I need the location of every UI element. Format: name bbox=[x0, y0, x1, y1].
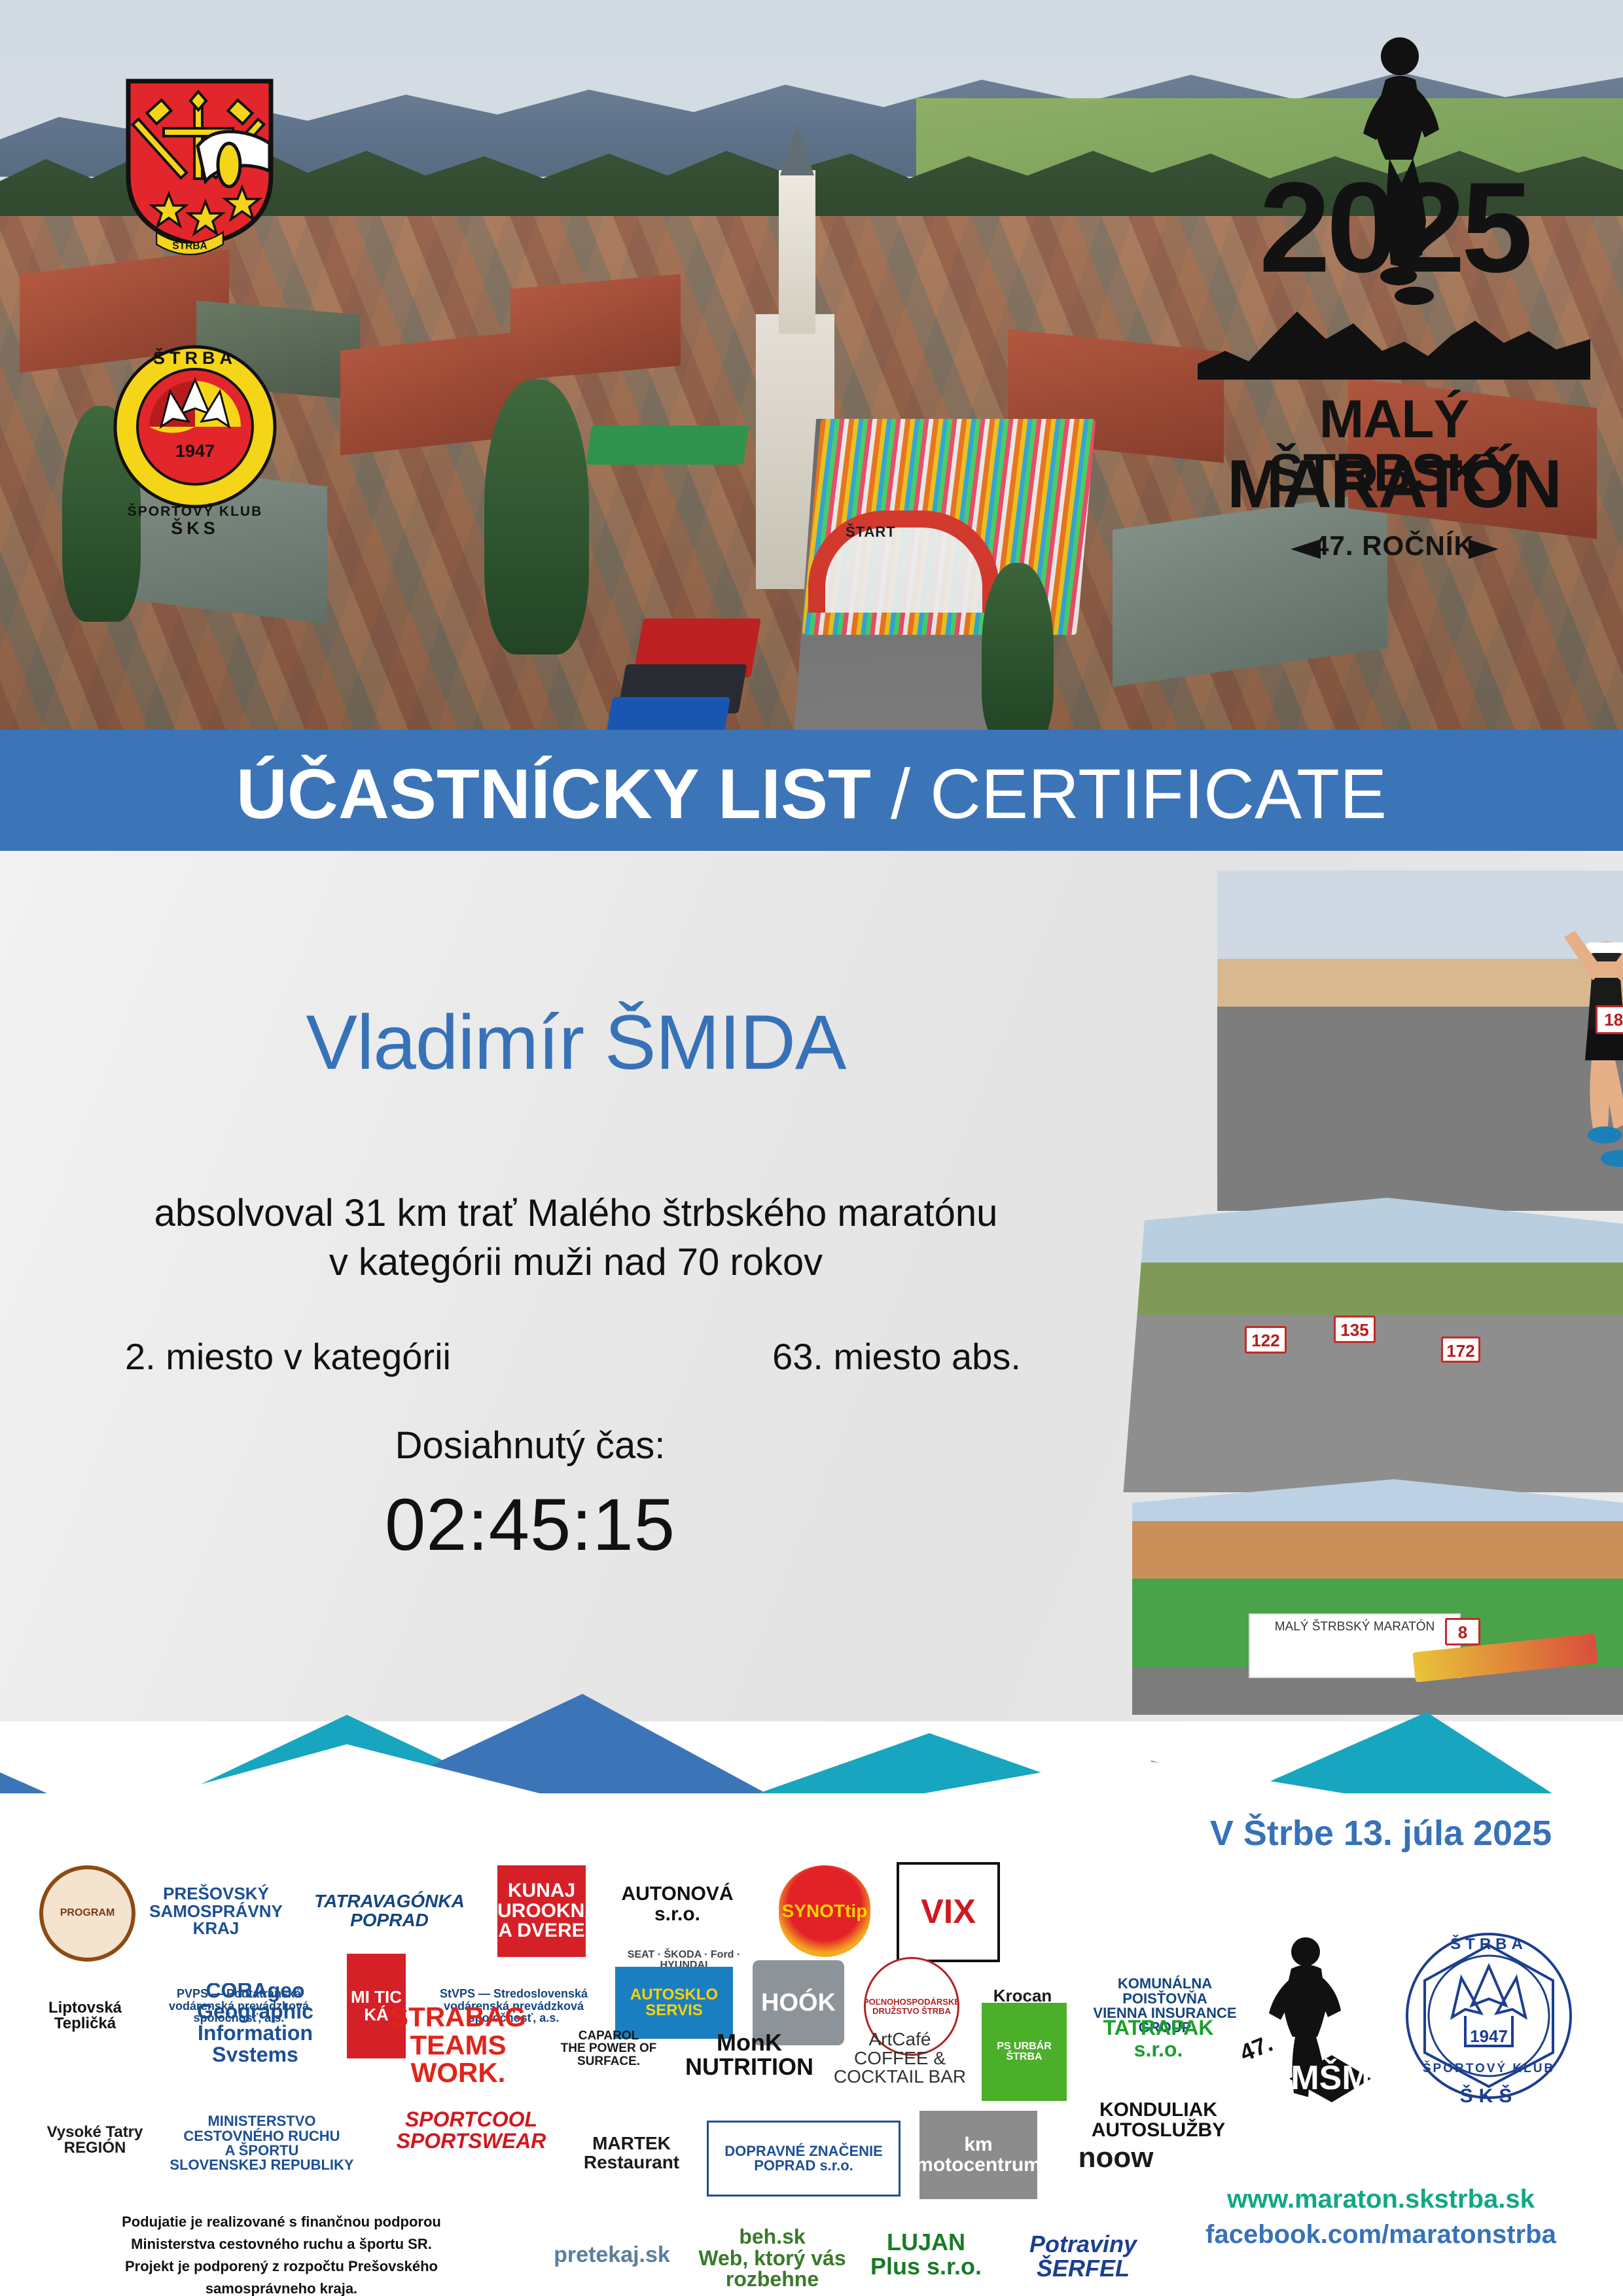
sponsor-logo-vysoke-tatry: Vysoké Tatry REGIÓN bbox=[39, 2078, 151, 2202]
sponsor-logo-martek: MARTEK Restaurant bbox=[569, 2104, 694, 2202]
sponsor-label: ArtCafé COFFEE & COCKTAIL BAR bbox=[831, 2029, 969, 2088]
sponsor-label: HOÓK bbox=[760, 1989, 837, 2017]
bib-number: 172 bbox=[1441, 1336, 1480, 1363]
sponsor-label: PROGRAM bbox=[59, 1907, 116, 1920]
sponsor-label: beh.sk Web, ktorý vás rozbehne bbox=[697, 2229, 847, 2287]
bib-number: 122 bbox=[1245, 1326, 1287, 1354]
sponsor-logo-behsk: beh.sk Web, ktorý vás rozbehne bbox=[697, 2229, 847, 2287]
disclaimer-line-1: Podujatie je realizované s finančnou pod… bbox=[72, 2211, 491, 2233]
sks-abbrev-label: ŠKS bbox=[171, 518, 219, 537]
title-banner-text: ÚČASTNÍCKY LIST / CERTIFICATE bbox=[0, 738, 1623, 850]
sponsor-label: LUJAN Plus s.r.o. bbox=[869, 2229, 983, 2280]
sks-founding-year: 1947 bbox=[175, 441, 215, 461]
sks-stamp-mid: ŠPORTOVÝ KLUB bbox=[1423, 2061, 1555, 2075]
sponsor-label: DOPRAVNÉ ZNAČENIE POPRAD s.r.o. bbox=[709, 2143, 899, 2175]
sponsor-logo-ministerstvo: MINISTERSTVO CESTOVNÉHO RUCHU A ŠPORTU S… bbox=[164, 2091, 360, 2196]
absolute-place: 63. miesto abs. bbox=[694, 1335, 1099, 1378]
sponsor-logo-sportcool: SPORTCOOL SPORTSWEAR bbox=[389, 2085, 553, 2176]
sponsor-label: POĽNOHOSPODÁRSKE DRUŽSTVO ŠTRBA bbox=[864, 1996, 959, 2017]
certificate-page: ŠTART ŠTRBA bbox=[0, 0, 1623, 2296]
msm-abbrev-label: MŠM bbox=[1291, 2058, 1370, 2097]
finish-time-label: Dosiahnutý čas: bbox=[131, 1424, 929, 1467]
sponsor-label: TATRAVAGÓNKA POPRAD bbox=[313, 1891, 466, 1931]
sponsor-label: MINISTERSTVO CESTOVNÉHO RUCHU A ŠPORTU S… bbox=[168, 2113, 355, 2174]
sponsor-label: CAPAROL THE POWER OF SURFACE. bbox=[550, 2028, 668, 2069]
achievement-line-1: absolvoval 31 km trať Malého štrbského m… bbox=[39, 1191, 1113, 1235]
bib-number: 135 bbox=[1334, 1316, 1376, 1343]
sponsor-logo-coraqeo: CORAgeo Geographic Information Systems bbox=[160, 1983, 350, 2062]
sponsor-logo-pretekaj: pretekaj.sk bbox=[537, 2225, 687, 2284]
village-banner-label: ŠTRBA bbox=[172, 240, 207, 252]
mountain-range-icon bbox=[1198, 301, 1590, 380]
sponsor-label: KONDULIAK AUTOSLUŽBY bbox=[1090, 2099, 1226, 2142]
participant-name: Vladimír ŠMIDA bbox=[39, 998, 1113, 1087]
sks-top-label: ŠTRBA bbox=[153, 348, 237, 368]
event-logo: 2025 31 km 10 km MALÝ ŠTRBSKÝ MARATÓN 47… bbox=[1191, 26, 1597, 602]
sponsor-logo-synottip: SYNOTtip bbox=[779, 1865, 870, 1957]
sponsor-logo-monk-nutrition: MonK NUTRITION bbox=[681, 2016, 818, 2094]
sponsor-label: KUNAJ EUROOKNÁ A DVERE bbox=[497, 1880, 586, 1943]
website-link[interactable]: www.maraton.skstrba.sk bbox=[1158, 2185, 1603, 2214]
title-en: CERTIFICATE bbox=[930, 754, 1387, 833]
achievement-line-2: v kategórii muži nad 70 rokov bbox=[39, 1240, 1113, 1284]
sponsor-logo-km-motocentrum: km motocentrum bbox=[919, 2111, 1037, 2199]
sponsor-logo-autonova: AUTONOVÁ s.r.o. bbox=[605, 1869, 749, 1941]
sponsor-logo-dopravne-znacenie: DOPRAVNÉ ZNAČENIE POPRAD s.r.o. bbox=[707, 2121, 901, 2197]
facebook-link[interactable]: facebook.com/maratonstrba bbox=[1158, 2220, 1603, 2250]
sks-stamp-top: ŠTRBA bbox=[1450, 1935, 1527, 1953]
sponsor-label: PS URBÁR ŠTRBA bbox=[982, 2040, 1067, 2064]
sponsor-logo-vix: VIX bbox=[897, 1862, 1000, 1962]
title-separator: / bbox=[871, 754, 930, 833]
sponsor-label: MARTEK Restaurant bbox=[582, 2133, 681, 2173]
sponsor-label: km motocentrum bbox=[919, 2134, 1037, 2176]
msm-edition-label: 47. bbox=[1236, 2030, 1277, 2067]
title-sk: ÚČASTNÍCKY LIST bbox=[236, 754, 871, 833]
sks-stamp-bottom: ŠKŠ bbox=[1460, 2085, 1518, 2107]
sponsor-label: Potraviny ŠERFEL bbox=[1028, 2231, 1138, 2282]
sponsor-logo-lujan: LUJAN Plus s.r.o. bbox=[857, 2215, 995, 2294]
strba-banner-ribbon: ŠTRBA bbox=[98, 196, 281, 275]
event-edition: 47. ROČNÍK bbox=[1191, 530, 1597, 562]
sponsor-logo-strabag: STRABAG TEAMS WORK. bbox=[380, 2003, 537, 2088]
sponsor-logo-tatravagonka: TATRAVAGÓNKA POPRAD bbox=[308, 1875, 471, 1947]
event-year: 2025 bbox=[1191, 169, 1597, 287]
sponsor-logo-potraviny-serfel: Potraviny ŠERFEL bbox=[1008, 2219, 1158, 2294]
funding-disclaimer: Podujatie je realizované s finančnou pod… bbox=[72, 2211, 491, 2296]
sponsor-logo-ps-urbar-strba: PS URBÁR ŠTRBA bbox=[982, 2003, 1067, 2101]
sponsor-label: SPORTCOOL SPORTSWEAR bbox=[395, 2108, 548, 2153]
sponsor-logo-presovsky-kraj: PREŠOVSKÝ SAMOSPRÁVNY KRAJ bbox=[141, 1872, 291, 1950]
sponsor-label: MonK NUTRITION bbox=[684, 2030, 815, 2080]
sks-stamp-year: 1947 bbox=[1470, 2026, 1508, 2046]
finish-time-value: 02:45:15 bbox=[131, 1482, 929, 1567]
bib-number: 181 bbox=[1596, 1005, 1623, 1034]
disclaimer-line-3: Projekt je podporený z rozpočtu Prešovsk… bbox=[72, 2255, 491, 2296]
photo-runners-on-course: 122 135 172 bbox=[1106, 1198, 1623, 1492]
sponsor-logo-caparol: CAPAROL THE POWER OF SURFACE. bbox=[550, 2000, 668, 2098]
category-place: 2. miesto v kategórii bbox=[85, 1335, 491, 1378]
bib-number: 8 bbox=[1445, 1618, 1480, 1645]
sponsor-label: SYNOTtip bbox=[781, 1901, 869, 1922]
sks-stamp-logo: 1947 ŠTRBA ŠPORTOVÝ KLUB ŠKŠ bbox=[1397, 1918, 1580, 2114]
sponsor-logo-kunaj: KUNAJ EUROOKNÁ A DVERE bbox=[497, 1865, 586, 1957]
female-runner-figure bbox=[1558, 923, 1623, 1178]
sponsor-logo-liptovska-teplicka: Liptovská Tepličká bbox=[39, 1957, 131, 2075]
sponsor-logo-artcafe: ArtCafé COFFEE & COCKTAIL BAR bbox=[831, 2016, 969, 2101]
date-and-place: V Štrbe 13. júla 2025 bbox=[1171, 1813, 1590, 1854]
sponsor-label: PREŠOVSKÝ SAMOSPRÁVNY KRAJ bbox=[148, 1884, 284, 1939]
sks-bottom-label: ŠPORTOVÝ KLUB bbox=[128, 503, 262, 519]
sponsor-label: VIX bbox=[919, 1893, 977, 1931]
sponsor-label: pretekaj.sk bbox=[552, 2242, 671, 2268]
photo-finisher-celebration: 181 bbox=[1217, 870, 1623, 1211]
disclaimer-line-2: Ministerstva cestovného ruchu a športu S… bbox=[72, 2233, 491, 2255]
msm-47-logo: 47. MŠM bbox=[1207, 1924, 1371, 2114]
sponsor-label: Vysoké Tatry REGIÓN bbox=[46, 2123, 145, 2158]
sponsor-label: STRABAG TEAMS WORK. bbox=[380, 2003, 537, 2088]
sponsor-label: CORAgeo Geographic Information Systems bbox=[160, 1983, 350, 2062]
sponsor-logo-program: PROGRAM bbox=[39, 1865, 135, 1962]
sponsor-label: AUTONOVÁ s.r.o. bbox=[620, 1883, 734, 1926]
arrow-right-icon bbox=[1469, 539, 1499, 559]
sks-club-logo: 1947 ŠTRBA ŠPORTOVÝ KLUB ŠKS bbox=[110, 340, 280, 537]
event-name-line2: MARATÓN bbox=[1191, 450, 1597, 518]
sponsor-label: Liptovská Tepličká bbox=[47, 1999, 123, 2034]
